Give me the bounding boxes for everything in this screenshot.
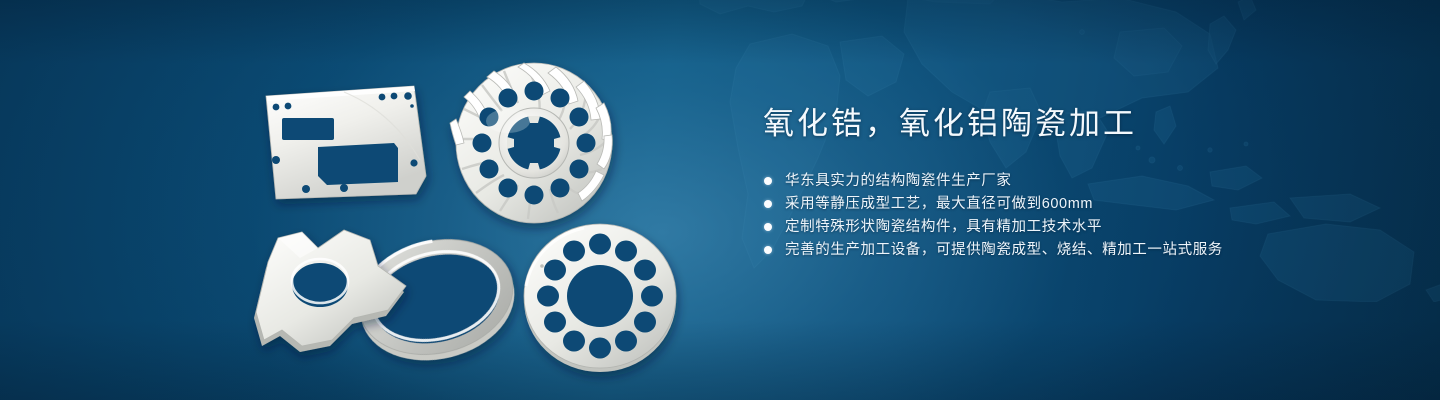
list-item-label: 定制特殊形状陶瓷结构件，具有精加工技术水平 [785,219,1102,235]
list-item-label: 完善的生产加工设备，可提供陶瓷成型、烧结、精加工一站式服务 [785,242,1223,258]
list-item-label: 采用等静压成型工艺，最大直径可做到600mm [785,196,1093,212]
ceramic-flange-disc [524,224,676,372]
list-item-label: 华东具实力的结构陶瓷件生产厂家 [785,173,1012,189]
hero-banner: 氧化锆，氧化铝陶瓷加工 华东具实力的结构陶瓷件生产厂家 采用等静压成型工艺，最大… [0,0,1440,400]
list-item: 完善的生产加工设备，可提供陶瓷成型、烧结、精加工一站式服务 [763,243,1323,258]
feature-list: 华东具实力的结构陶瓷件生产厂家 采用等静压成型工艺，最大直径可做到600mm 定… [763,174,1323,258]
ceramic-products-image [0,0,740,400]
bullet-dot-icon [764,246,772,254]
bullet-dot-icon [764,200,772,208]
banner-copy: 氧化锆，氧化铝陶瓷加工 华东具实力的结构陶瓷件生产厂家 采用等静压成型工艺，最大… [763,106,1323,266]
page-title: 氧化锆，氧化铝陶瓷加工 [763,106,1323,143]
bullet-dot-icon [764,223,772,231]
bullet-dot-icon [764,177,772,185]
ceramic-plate [266,86,426,199]
list-item: 采用等静压成型工艺，最大直径可做到600mm [763,197,1323,212]
list-item: 定制特殊形状陶瓷结构件，具有精加工技术水平 [763,220,1323,235]
list-item: 华东具实力的结构陶瓷件生产厂家 [763,174,1323,189]
ceramic-impeller [450,63,612,223]
